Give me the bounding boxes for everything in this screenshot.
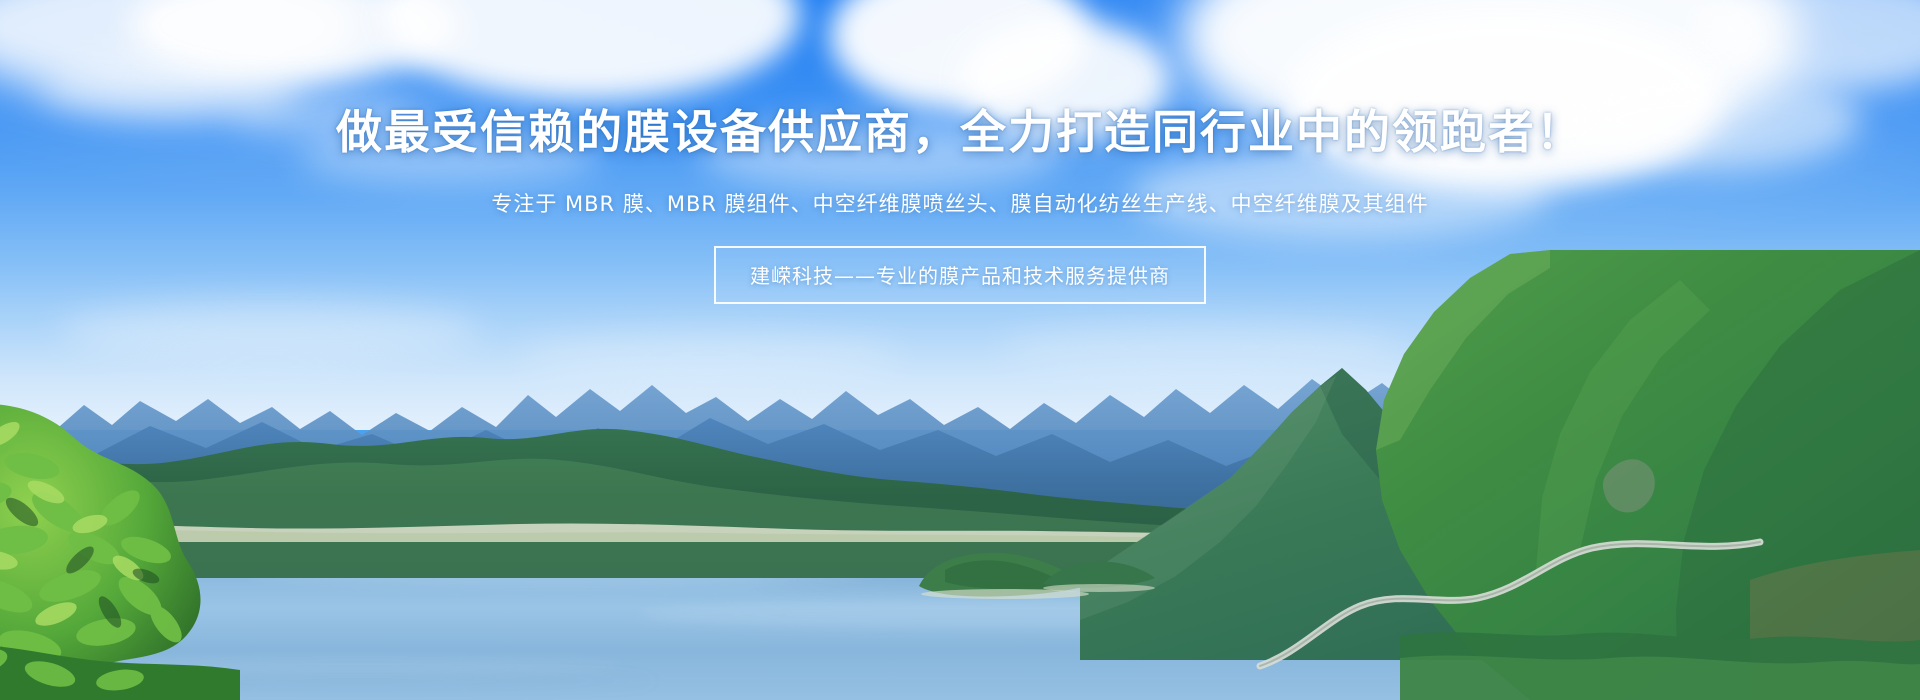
roadside-scrub bbox=[1400, 600, 1920, 700]
banner-copy: 做最受信赖的膜设备供应商，全力打造同行业中的领跑者！ 专注于 MBR 膜、MBR… bbox=[0, 0, 1920, 304]
tagline-badge: 建嵘科技——专业的膜产品和技术服务提供商 bbox=[714, 246, 1206, 304]
cloud-icon bbox=[60, 300, 480, 360]
foreground-tree-lower bbox=[0, 640, 240, 700]
tagline-container: 建嵘科技——专业的膜产品和技术服务提供商 bbox=[0, 218, 1920, 304]
page-title: 做最受信赖的膜设备供应商，全力打造同行业中的领跑者！ bbox=[0, 0, 1920, 162]
hero-banner: 做最受信赖的膜设备供应商，全力打造同行业中的领跑者！ 专注于 MBR 膜、MBR… bbox=[0, 0, 1920, 700]
banner-subtitle: 专注于 MBR 膜、MBR 膜组件、中空纤维膜喷丝头、膜自动化纺丝生产线、中空纤… bbox=[0, 162, 1920, 218]
lake-island-small bbox=[1035, 546, 1165, 594]
